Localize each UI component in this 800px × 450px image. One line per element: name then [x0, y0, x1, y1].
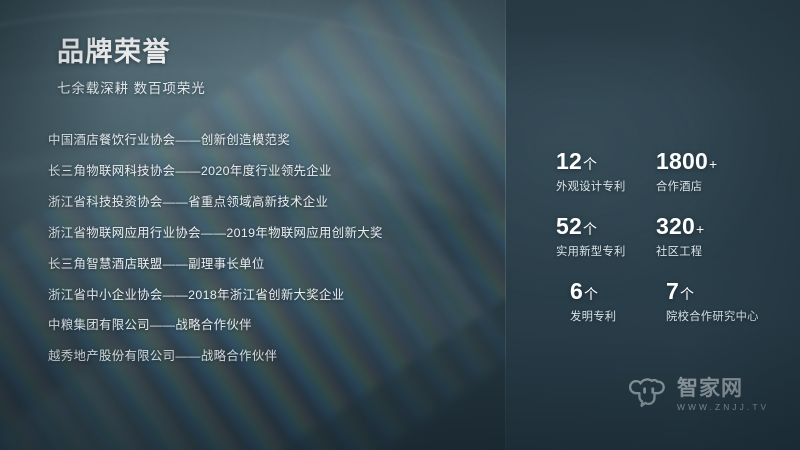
stat-value: 12个 — [556, 150, 638, 173]
stat-label: 院校合作研究中心 — [666, 308, 784, 324]
stat-label: 实用新型专利 — [556, 243, 638, 259]
stat-unit: + — [696, 221, 704, 237]
stat-label: 合作酒店 — [656, 178, 784, 194]
page-subtitle: 七余载深耕 数百项荣光 — [57, 77, 206, 97]
stat-unit: 个 — [583, 156, 597, 172]
stat-number: 52 — [556, 213, 582, 239]
watermark-url: WWW.ZNJJ.TV — [677, 403, 769, 411]
statistics-grid: 12个 外观设计专利 1800+ 合作酒店 52个 实用新型专利 320+ 社区… — [522, 150, 784, 324]
stat-unit: + — [709, 156, 717, 172]
list-item: 长三角智慧酒店联盟——副理事长单位 — [48, 258, 478, 270]
stat-value: 52个 — [556, 215, 638, 238]
stat-number: 320 — [656, 213, 695, 239]
honor-list: 中国酒店餐饮行业协会——创新创造模范奖 长三角物联网科技协会——2020年度行业… — [48, 134, 478, 381]
watermark-text: 智家网 WWW.ZNJJ.TV — [677, 378, 769, 411]
cloud-logo-icon — [628, 375, 670, 415]
stat-item-utility-patents: 52个 实用新型专利 — [522, 215, 638, 259]
stat-value: 320+ — [656, 215, 784, 238]
stat-unit: 个 — [680, 286, 694, 302]
stat-item-research-centers: 7个 院校合作研究中心 — [654, 280, 784, 324]
slide-content: 品牌荣誉 七余载深耕 数百项荣光 中国酒店餐饮行业协会——创新创造模范奖 长三角… — [0, 0, 800, 450]
list-item: 中粮集团有限公司——战略合作伙伴 — [48, 319, 478, 331]
stat-value: 6个 — [570, 280, 638, 303]
watermark: 智家网 WWW.ZNJJ.TV — [628, 375, 769, 415]
list-item: 中国酒店餐饮行业协会——创新创造模范奖 — [48, 134, 478, 146]
stat-item-invention-patents: 6个 发明专利 — [522, 280, 638, 324]
list-item: 越秀地产股份有限公司——战略合作伙伴 — [48, 350, 478, 362]
brand-honor-slide: 品牌荣誉 七余载深耕 数百项荣光 中国酒店餐饮行业协会——创新创造模范奖 长三角… — [0, 0, 800, 450]
stat-value: 7个 — [666, 280, 784, 303]
list-item: 浙江省物联网应用行业协会——2019年物联网应用创新大奖 — [48, 227, 478, 239]
list-item: 浙江省中小企业协会——2018年浙江省创新大奖企业 — [48, 289, 478, 301]
stat-unit: 个 — [583, 221, 597, 237]
stat-value: 1800+ — [656, 150, 784, 173]
stat-number: 7 — [666, 278, 679, 304]
list-item: 长三角物联网科技协会——2020年度行业领先企业 — [48, 165, 478, 177]
stat-number: 6 — [570, 278, 583, 304]
stat-unit: 个 — [584, 286, 598, 302]
stat-label: 外观设计专利 — [556, 178, 638, 194]
stat-number: 1800 — [656, 148, 708, 174]
list-item: 浙江省科技投资协会——省重点领域高新技术企业 — [48, 196, 478, 208]
stat-label: 发明专利 — [570, 308, 638, 324]
page-title: 品牌荣誉 — [57, 38, 206, 68]
stat-item-community-projects: 320+ 社区工程 — [654, 215, 784, 259]
stat-number: 12 — [556, 148, 582, 174]
stat-item-partner-hotels: 1800+ 合作酒店 — [654, 150, 784, 194]
stat-item-design-patents: 12个 外观设计专利 — [522, 150, 638, 194]
watermark-brand-name: 智家网 — [677, 377, 743, 400]
headline-block: 品牌荣誉 七余载深耕 数百项荣光 — [57, 38, 206, 97]
stat-label: 社区工程 — [656, 243, 784, 259]
